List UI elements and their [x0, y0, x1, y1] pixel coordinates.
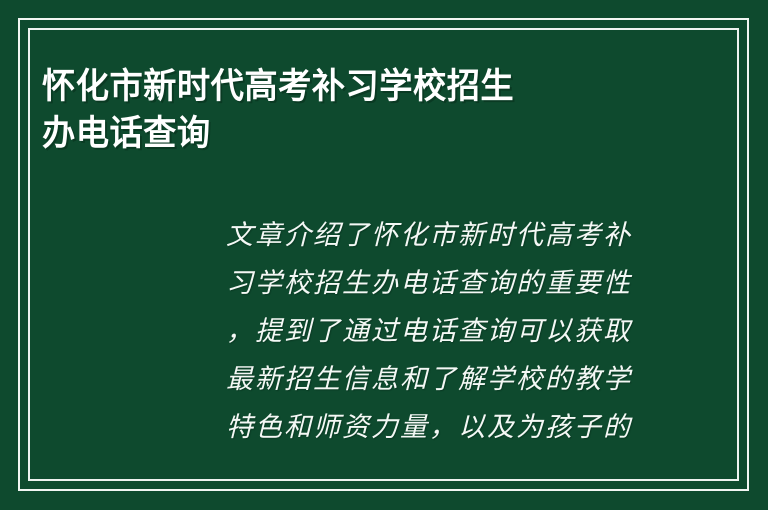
body-line-2: 习学校招生办电话查询的重要性 [226, 260, 650, 308]
poster-card: 怀化市新时代高考补习学校招生 办电话查询 文章介绍了怀化市新时代高考补 习学校招… [0, 0, 768, 510]
body-line-3: ，提到了通过电话查询可以获取 [226, 308, 650, 356]
title-line-1: 怀化市新时代高考补习学校招生 [42, 64, 669, 111]
body-line-4: 最新招生信息和了解学校的教学 [226, 356, 650, 404]
body-line-5: 特色和师资力量，以及为孩子的 [226, 404, 650, 452]
body-line-1: 文章介绍了怀化市新时代高考补 [226, 212, 650, 260]
title-line-2: 办电话查询 [42, 111, 669, 158]
poster-title: 怀化市新时代高考补习学校招生 办电话查询 [42, 64, 702, 158]
poster-body-text: 文章介绍了怀化市新时代高考补 习学校招生办电话查询的重要性 ，提到了通过电话查询… [226, 212, 650, 452]
